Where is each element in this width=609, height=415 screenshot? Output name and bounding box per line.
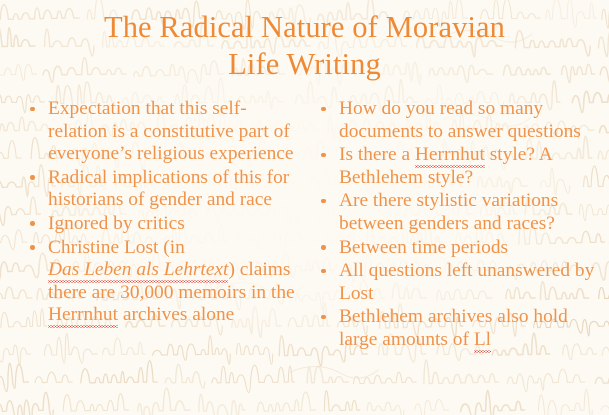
spellcheck-underlined-text: Herrnhut [415, 144, 485, 167]
bullet-dot-icon [321, 107, 326, 112]
bullet-dot-icon [321, 315, 326, 320]
left-bullet-list: Expectation that this self-relation is a… [27, 98, 297, 327]
bullet-text: Are there stylistic variations between g… [339, 190, 605, 235]
bullet-text: How do you read so many documents to ans… [339, 98, 605, 143]
bullet-text: Radical implications of this for histori… [48, 167, 297, 212]
bullet-dot-icon [30, 245, 35, 250]
right-bullet-list: How do you read so many documents to ans… [318, 98, 605, 352]
bullet-dot-icon [321, 199, 326, 204]
text-run: archives alone [118, 304, 234, 325]
text-run: Between time periods [339, 237, 508, 258]
spellcheck-underlined-text: Das Leben als Lehrtext [48, 259, 228, 282]
bullet-dot-icon [321, 153, 326, 158]
slide-title: The Radical Nature of Moravian Life Writ… [0, 9, 609, 83]
bullet-item: Radical implications of this for histori… [27, 167, 297, 212]
text-run: Expectation that this self-relation is a… [48, 98, 294, 164]
bullet-text: Expectation that this self-relation is a… [48, 98, 297, 166]
text-run: Bethlehem archives also hold large amoun… [339, 306, 568, 350]
text-run: Christine Lost (in [48, 237, 185, 258]
bullet-dot-icon [30, 175, 35, 180]
bullet-text: Bethlehem archives also hold large amoun… [339, 306, 605, 351]
spellcheck-underlined-text: Ll [474, 329, 491, 352]
bullet-text: Is there a Herrnhut style? A Bethlehem s… [339, 144, 605, 189]
bullet-item: All questions left unanswered by Lost [318, 260, 605, 305]
slide-body: Expectation that this self-relation is a… [0, 98, 609, 415]
spellcheck-underlined-text: Herrnhut [48, 304, 118, 327]
bullet-item: Expectation that this self-relation is a… [27, 98, 297, 166]
bullet-item: Christine Lost (in Das Leben als Lehrtex… [27, 237, 297, 327]
bullet-item: Are there stylistic variations between g… [318, 190, 605, 235]
right-text-column: How do you read so many documents to ans… [305, 98, 609, 353]
bullet-item: Ignored by critics [27, 213, 297, 236]
bullet-item: Is there a Herrnhut style? A Bethlehem s… [318, 144, 605, 189]
bullet-dot-icon [321, 269, 326, 274]
bullet-text: Between time periods [339, 237, 605, 260]
bullet-dot-icon [30, 107, 35, 112]
text-run: All questions left unanswered by Lost [339, 260, 594, 304]
bullet-text: Ignored by critics [48, 213, 297, 236]
bullet-text: Christine Lost (in Das Leben als Lehrtex… [48, 237, 297, 327]
text-run: Are there stylistic variations between g… [339, 190, 558, 234]
bullet-dot-icon [30, 221, 35, 226]
left-text-column: Expectation that this self-relation is a… [0, 98, 305, 328]
bullet-item: How do you read so many documents to ans… [318, 98, 605, 143]
text-run: Radical implications of this for histori… [48, 167, 289, 211]
bullet-item: Between time periods [318, 237, 605, 260]
bullet-text: All questions left unanswered by Lost [339, 260, 605, 305]
text-run: How do you read so many documents to ans… [339, 98, 581, 142]
text-run: Ignored by critics [48, 213, 185, 234]
slide-canvas: The Radical Nature of Moravian Life Writ… [0, 0, 609, 415]
bullet-item: Bethlehem archives also hold large amoun… [318, 306, 605, 351]
text-run: Is there a [339, 144, 415, 165]
bullet-dot-icon [321, 245, 326, 250]
